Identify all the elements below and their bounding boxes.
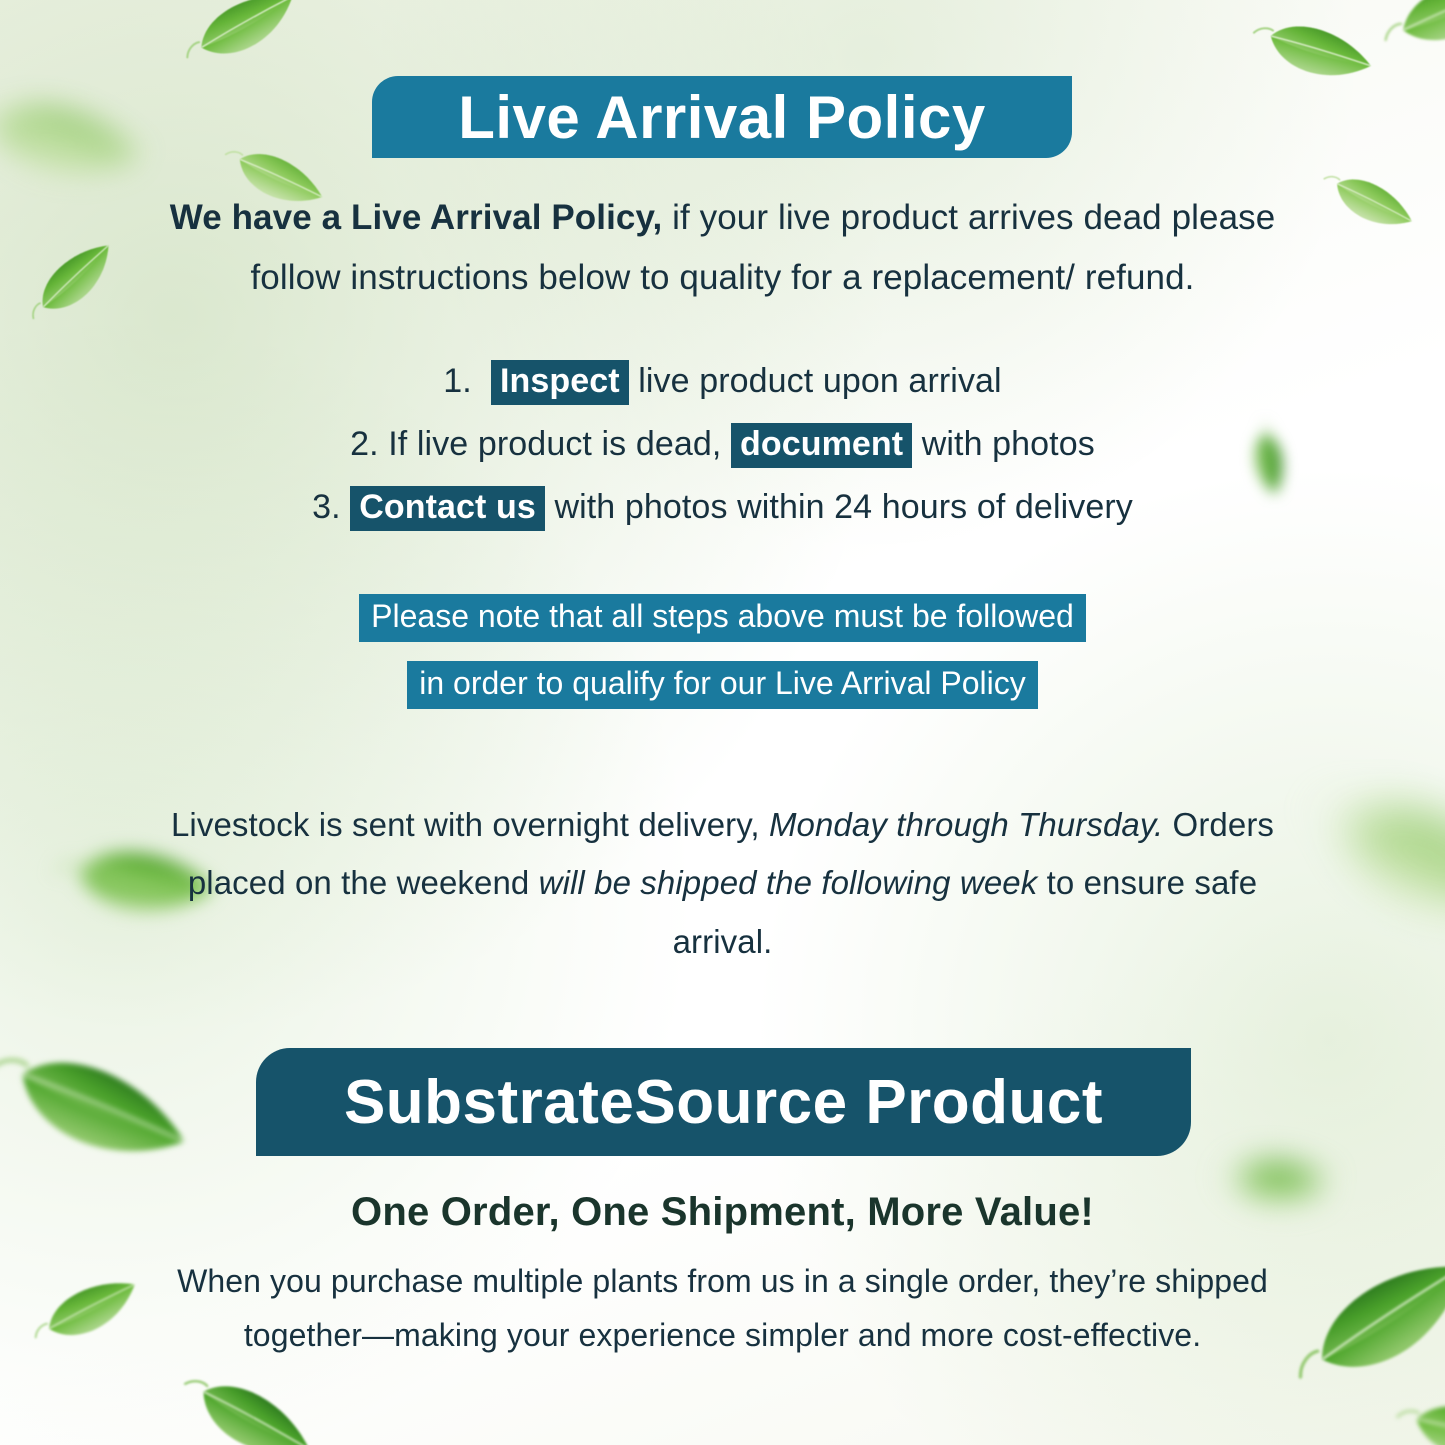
intro-bold-text: We have a Live Arrival Policy, (170, 198, 663, 237)
shipping-schedule-paragraph: Livestock is sent with overnight deliver… (150, 796, 1295, 971)
step-item-3: 3. Contact us with photos within 24 hour… (150, 476, 1295, 539)
step-1-text: live product upon arrival (629, 362, 1002, 400)
step-3-highlight-contact-us[interactable]: Contact us (350, 486, 545, 531)
live-arrival-steps-list: 1. Inspect live product upon arrival 2. … (150, 350, 1295, 540)
notice-line-1: Please note that all steps above must be… (359, 594, 1086, 642)
notice-line-2: in order to qualify for our Live Arrival… (407, 661, 1037, 709)
live-arrival-notice-block: Please note that all steps above must be… (150, 585, 1295, 719)
shipping-text-a: Livestock is sent with overnight deliver… (171, 806, 769, 843)
page-content: Live Arrival Policy We have a Live Arriv… (0, 0, 1445, 1445)
step-item-1: 1. Inspect live product upon arrival (150, 350, 1295, 413)
step-3-text: with photos within 24 hours of delivery (545, 488, 1133, 526)
live-arrival-policy-title: Live Arrival Policy (458, 83, 986, 152)
substratesource-paragraph: When you purchase multiple plants from u… (150, 1255, 1295, 1363)
live-arrival-policy-banner: Live Arrival Policy (372, 76, 1072, 158)
substratesource-product-title: SubstrateSource Product (344, 1067, 1103, 1138)
substratesource-product-banner: SubstrateSource Product (256, 1048, 1191, 1156)
shipping-emphasis-weekend: will be shipped the following week (539, 864, 1038, 901)
step-item-2: 2. If live product is dead, document wit… (150, 413, 1295, 476)
shipping-emphasis-days: Monday through Thursday. (769, 806, 1163, 843)
live-arrival-intro-paragraph: We have a Live Arrival Policy, if your l… (150, 188, 1295, 308)
step-2-text: with photos (912, 425, 1095, 463)
step-2-highlight-document: document (731, 423, 912, 468)
step-2-pre-text: If live product is dead, (388, 425, 731, 463)
step-2-number: 2. (350, 425, 379, 463)
step-3-number: 3. (312, 488, 341, 526)
substratesource-subheading: One Order, One Shipment, More Value! (150, 1190, 1295, 1235)
step-1-highlight-inspect: Inspect (491, 360, 629, 405)
step-1-number: 1. (443, 362, 472, 400)
